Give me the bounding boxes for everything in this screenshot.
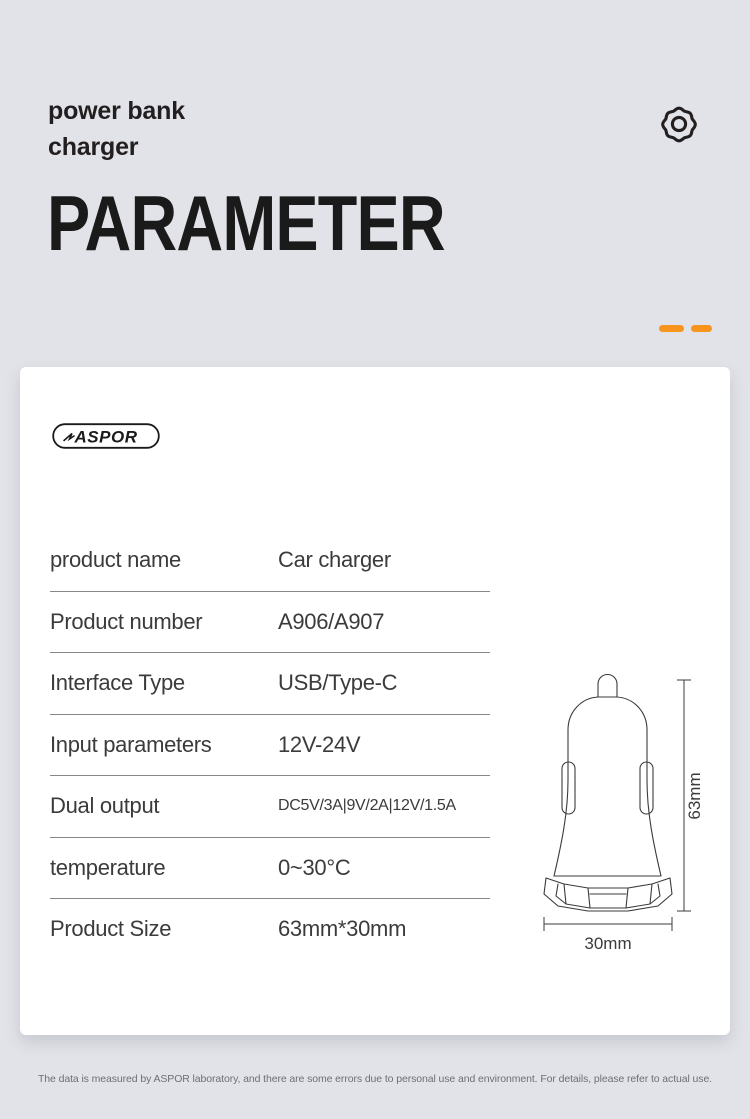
spec-label: Product number xyxy=(50,609,278,635)
accent-dash-short xyxy=(691,325,712,332)
accent-dash-long xyxy=(659,325,684,332)
spec-value: A906/A907 xyxy=(278,609,384,635)
footer-disclaimer: The data is measured by ASPOR laboratory… xyxy=(0,1073,750,1085)
spec-label: product name xyxy=(50,547,278,573)
spec-value: DC5V/3A|9V/2A|12V/1.5A xyxy=(278,797,456,815)
table-row: Interface Type USB/Type-C xyxy=(50,653,490,715)
width-dimension-label: 30mm xyxy=(584,934,631,952)
accent-dashes xyxy=(659,325,712,332)
spec-label: Input parameters xyxy=(50,732,278,758)
table-row: Product Size 63mm*30mm xyxy=(50,899,490,960)
product-category-line-1: power bank xyxy=(48,94,378,130)
spec-label: Interface Type xyxy=(50,670,278,696)
spec-value: Car charger xyxy=(278,547,391,573)
spec-label: Dual output xyxy=(50,793,278,819)
specification-table: product name Car charger Product number … xyxy=(50,530,490,960)
spec-value: 12V-24V xyxy=(278,732,360,758)
table-row: Input parameters 12V-24V xyxy=(50,715,490,777)
gear-icon xyxy=(652,97,706,151)
spec-label: Product Size xyxy=(50,916,278,942)
page-header: power bank charger PARAMETER xyxy=(0,0,750,367)
svg-text:ASPOR: ASPOR xyxy=(74,427,138,446)
spec-value: USB/Type-C xyxy=(278,670,397,696)
spec-value: 63mm*30mm xyxy=(278,916,406,942)
page-title: PARAMETER xyxy=(47,188,445,260)
aspor-logo: ASPOR xyxy=(52,423,160,449)
car-charger-diagram: 63mm 30mm xyxy=(518,662,718,952)
spec-label: temperature xyxy=(50,855,278,881)
table-row: Dual output DC5V/3A|9V/2A|12V/1.5A xyxy=(50,776,490,838)
table-row: temperature 0~30°C xyxy=(50,838,490,900)
product-category-label: power bank charger xyxy=(48,94,378,165)
product-category-line-2: charger xyxy=(48,130,378,166)
table-row: Product number A906/A907 xyxy=(50,592,490,654)
spec-value: 0~30°C xyxy=(278,855,350,881)
table-row: product name Car charger xyxy=(50,530,490,592)
spec-card: ASPOR product name Car charger Product n… xyxy=(20,367,730,1035)
height-dimension-label: 63mm xyxy=(685,772,704,819)
